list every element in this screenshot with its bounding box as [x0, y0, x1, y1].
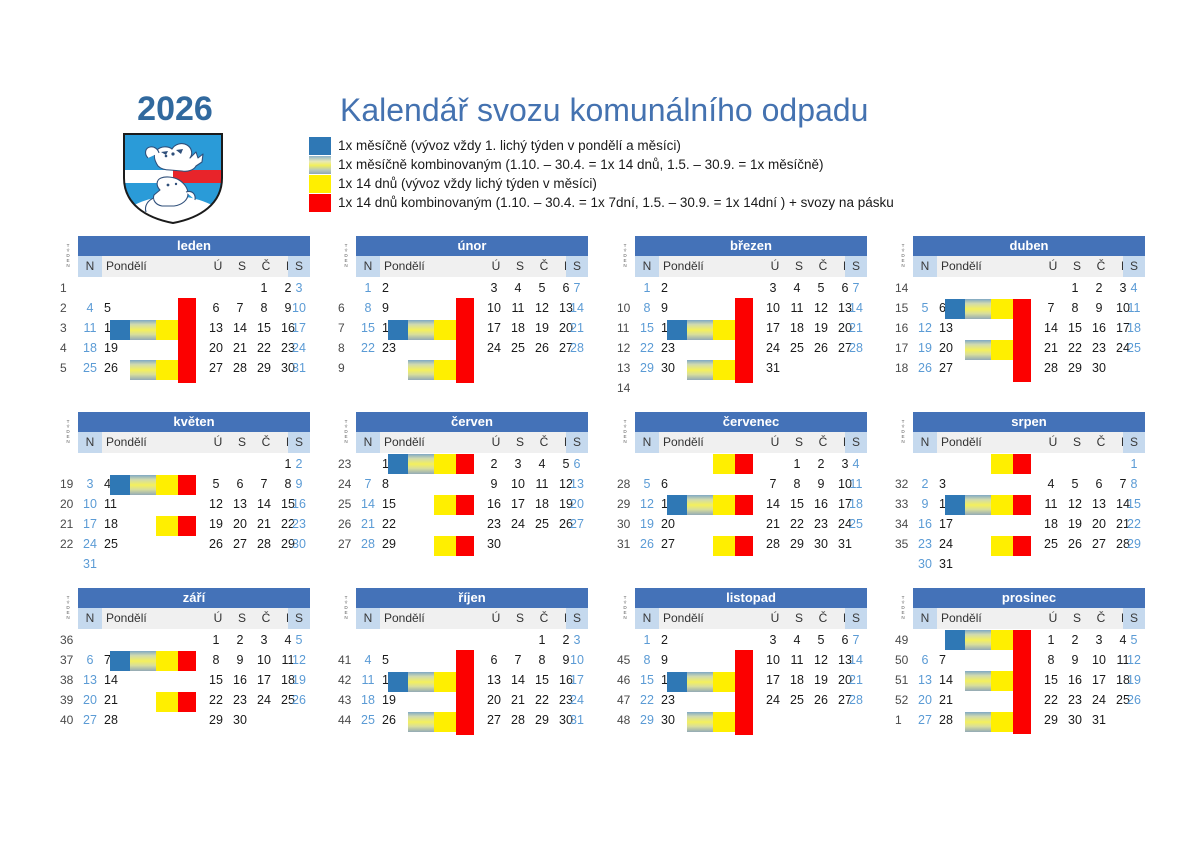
- day-cell: 16: [913, 514, 937, 534]
- day-cell: 5: [809, 630, 833, 650]
- legend-swatch-yellow-icon: [309, 175, 331, 193]
- month-title: květen: [78, 412, 310, 432]
- day-cell: 15: [530, 670, 554, 690]
- day-of-week-1: Pondělí: [380, 608, 440, 629]
- week-number: 25: [338, 494, 356, 514]
- day-cell: 4: [506, 278, 530, 298]
- day-of-week-header: NPondělíÚSČPS: [913, 432, 1145, 453]
- week-number: 18: [895, 358, 913, 378]
- day-of-week-2: Ú: [484, 608, 508, 629]
- week-row: 2010111213141516: [58, 494, 310, 514]
- day-cell: 24: [761, 338, 785, 358]
- day-cell: 29: [785, 534, 809, 554]
- week-row: 322345678: [893, 474, 1145, 494]
- week-row: 15567891011: [893, 298, 1145, 318]
- week-number: 3: [60, 318, 78, 338]
- day-cell: 4: [530, 454, 554, 474]
- day-cell: 22: [530, 690, 554, 710]
- day-cell: 22: [1063, 338, 1087, 358]
- day-cell: 23: [661, 338, 683, 358]
- week-number: 40: [60, 710, 78, 730]
- week-number: 10: [617, 298, 635, 318]
- day-cell: 20: [78, 690, 102, 710]
- week-number: [338, 278, 356, 298]
- day-cell: 24: [252, 690, 276, 710]
- day-cell: 13: [228, 494, 252, 514]
- day-cell: 19: [1123, 670, 1145, 690]
- day-cell: 1: [204, 630, 228, 650]
- day-of-week-4: Č: [1089, 432, 1113, 453]
- month-block-duben: TÝDENdubenNPondělíÚSČPS14123415567891011…: [893, 236, 1145, 378]
- day-cell: 27: [913, 710, 937, 730]
- week-number: 27: [338, 534, 356, 554]
- day-cell: 1: [1039, 630, 1063, 650]
- week-column-label: TÝDEN: [338, 236, 354, 277]
- day-cell: 14: [104, 670, 126, 690]
- day-cell: 6: [566, 454, 588, 474]
- day-cell: 18: [78, 338, 102, 358]
- day-cell: 2: [1087, 278, 1111, 298]
- week-row: 14: [615, 378, 867, 398]
- legend-label: 1x 14 dnů kombinovaným (1.10. – 30.4. = …: [338, 195, 894, 210]
- week-number: 4: [60, 338, 78, 358]
- day-cell: 14: [1039, 318, 1063, 338]
- day-of-week-header: NPondělíÚSČPS: [78, 432, 310, 453]
- week-row: 4318192021222324: [336, 690, 588, 710]
- day-cell: 17: [482, 318, 506, 338]
- day-of-week-0: N: [635, 432, 659, 453]
- day-cell: 9: [661, 298, 683, 318]
- day-cell: 2: [382, 278, 404, 298]
- day-cell: 1: [635, 630, 659, 650]
- day-of-week-1: Pondělí: [659, 608, 719, 629]
- day-cell: 18: [530, 494, 554, 514]
- month-block-březen: TÝDENbřezenNPondělíÚSČPS1234567108910111…: [615, 236, 867, 398]
- day-cell: 29: [1123, 534, 1145, 554]
- day-cell: 1: [1063, 278, 1087, 298]
- week-number: 38: [60, 670, 78, 690]
- day-cell: 31: [78, 554, 102, 574]
- week-number: 21: [60, 514, 78, 534]
- week-row: 3612345: [58, 630, 310, 650]
- day-cell: 10: [761, 650, 785, 670]
- day-cell: 18: [506, 318, 530, 338]
- week-row: 4211121314151617: [336, 670, 588, 690]
- day-cell: 30: [661, 358, 683, 378]
- day-cell: 27: [566, 514, 588, 534]
- day-cell: 27: [78, 710, 102, 730]
- day-of-week-2: Ú: [1041, 608, 1065, 629]
- month-block-listopad: TÝDENlistopadNPondělíÚSČPS12345674589101…: [615, 588, 867, 730]
- week-number: 19: [60, 474, 78, 494]
- day-cell: 27: [482, 710, 506, 730]
- day-cell: 2: [809, 454, 833, 474]
- week-rows: 1234567108910111213141115161718192021122…: [615, 278, 867, 398]
- month-row: TÝDENkvětenNPondělíÚSČPS1219345678920101…: [0, 412, 1200, 588]
- day-cell: 11: [845, 474, 867, 494]
- calendar-page: 2026: [0, 0, 1200, 848]
- day-of-week-0: N: [78, 432, 102, 453]
- day-cell: 26: [913, 358, 937, 378]
- day-cell: 4: [785, 630, 809, 650]
- month-grid: TÝDENledenNPondělíÚSČPS11232456789103111…: [0, 236, 1200, 764]
- day-cell: 14: [356, 494, 380, 514]
- day-of-week-0: N: [356, 256, 380, 277]
- day-cell: 25: [506, 338, 530, 358]
- month-block-červenec: TÝDENčervenecNPondělíÚSČPS12342856789101…: [615, 412, 867, 554]
- day-cell: 16: [1087, 318, 1111, 338]
- day-cell: 21: [1039, 338, 1063, 358]
- month-title: říjen: [356, 588, 588, 608]
- day-cell: 29: [530, 710, 554, 730]
- month-block-září: TÝDENzáříNPondělíÚSČPS361234537678910111…: [58, 588, 310, 730]
- week-row: 45891011121314: [615, 650, 867, 670]
- day-cell: 7: [566, 278, 588, 298]
- week-number: [617, 454, 635, 474]
- day-of-week-4: Č: [811, 608, 835, 629]
- day-cell: 14: [939, 670, 961, 690]
- day-cell: 5: [288, 630, 310, 650]
- week-number: 49: [895, 630, 913, 650]
- day-cell: 12: [809, 650, 833, 670]
- week-number: 45: [617, 650, 635, 670]
- week-number: [895, 554, 913, 574]
- day-of-week-6: S: [288, 256, 310, 277]
- day-of-week-4: Č: [1089, 608, 1113, 629]
- day-cell: 22: [204, 690, 228, 710]
- day-cell: 7: [845, 278, 867, 298]
- day-of-week-header: NPondělíÚSČPS: [635, 432, 867, 453]
- day-cell: 26: [635, 534, 659, 554]
- day-cell: 27: [228, 534, 252, 554]
- week-row: 418192021222324: [58, 338, 310, 358]
- week-number: 50: [895, 650, 913, 670]
- legend-swatch-blue-icon: [309, 137, 331, 155]
- day-of-week-0: N: [913, 432, 937, 453]
- day-cell: 18: [1123, 318, 1145, 338]
- week-row: 1115161718192021: [615, 318, 867, 338]
- day-of-week-6: S: [845, 608, 867, 629]
- week-number: 44: [338, 710, 356, 730]
- week-rows: 1123245678910311121314151617418192021222…: [58, 278, 310, 378]
- day-of-week-1: Pondělí: [659, 256, 719, 277]
- day-cell: 12: [530, 298, 554, 318]
- day-cell: 27: [661, 534, 683, 554]
- week-rows: 1219345678920101112131415162117181920212…: [58, 454, 310, 574]
- day-cell: 16: [228, 670, 252, 690]
- day-cell: 9: [913, 494, 937, 514]
- week-rows: 1234567689101112131471516171819202182223…: [336, 278, 588, 378]
- week-row: 3523242526272829: [893, 534, 1145, 554]
- day-of-week-1: Pondělí: [937, 432, 997, 453]
- day-cell: 29: [204, 710, 228, 730]
- month-block-červen: TÝDENčervenNPondělíÚSČPS2312345624789101…: [336, 412, 588, 554]
- day-cell: 8: [1063, 298, 1087, 318]
- day-cell: 22: [635, 338, 659, 358]
- day-cell: 13: [482, 670, 506, 690]
- day-cell: 14: [506, 670, 530, 690]
- day-cell: 22: [382, 514, 404, 534]
- day-of-week-3: S: [1065, 432, 1089, 453]
- day-cell: 1: [530, 630, 554, 650]
- day-cell: 8: [252, 298, 276, 318]
- day-cell: 18: [845, 494, 867, 514]
- day-cell: 20: [566, 494, 588, 514]
- month-title: listopad: [635, 588, 867, 608]
- week-column-label: TÝDEN: [617, 588, 633, 629]
- day-cell: 24: [1087, 690, 1111, 710]
- week-row: 4615161718192021: [615, 670, 867, 690]
- week-row: 4722232425262728: [615, 690, 867, 710]
- day-cell: 16: [809, 494, 833, 514]
- day-cell: 28: [228, 358, 252, 378]
- day-cell: 7: [845, 630, 867, 650]
- day-cell: 25: [845, 514, 867, 534]
- day-cell: 21: [939, 690, 961, 710]
- day-cell: 4: [104, 474, 126, 494]
- day-cell: 22: [635, 690, 659, 710]
- day-cell: 26: [1123, 690, 1145, 710]
- day-cell: 17: [939, 514, 961, 534]
- day-cell: 16: [1063, 670, 1087, 690]
- day-cell: 11: [104, 494, 126, 514]
- week-number: 15: [895, 298, 913, 318]
- day-cell: 31: [1087, 710, 1111, 730]
- week-rows: 4912345506789101112511314151617181952202…: [893, 630, 1145, 730]
- day-cell: 3: [1087, 630, 1111, 650]
- day-of-week-4: Č: [532, 608, 556, 629]
- day-cell: 4: [785, 278, 809, 298]
- week-row: 2514151617181920: [336, 494, 588, 514]
- day-cell: 5: [382, 650, 404, 670]
- day-cell: 11: [1039, 494, 1063, 514]
- day-cell: 21: [845, 318, 867, 338]
- week-number: 22: [60, 534, 78, 554]
- day-cell: 1: [252, 278, 276, 298]
- day-cell: 14: [845, 650, 867, 670]
- day-cell: 4: [1123, 278, 1145, 298]
- week-number: 8: [338, 338, 356, 358]
- day-of-week-1: Pondělí: [380, 256, 440, 277]
- legend-label: 1x měsíčně (vývoz vždy 1. lichý týden v …: [338, 138, 681, 153]
- week-number: 24: [338, 474, 356, 494]
- week-number: 14: [617, 378, 635, 398]
- day-cell: 20: [661, 514, 683, 534]
- legend-item: 1x měsíčně kombinovaným (1.10. – 30.4. =…: [309, 155, 894, 174]
- week-row: 3416171819202122: [893, 514, 1145, 534]
- day-of-week-4: Č: [1089, 256, 1113, 277]
- day-cell: 13: [78, 670, 102, 690]
- day-cell: 31: [288, 358, 310, 378]
- week-row: 28567891011: [615, 474, 867, 494]
- day-cell: 12: [913, 318, 937, 338]
- day-of-week-6: S: [566, 256, 588, 277]
- day-of-week-header: NPondělíÚSČPS: [913, 256, 1145, 277]
- day-cell: 28: [845, 690, 867, 710]
- week-row: 1234567: [615, 278, 867, 298]
- week-row: 1: [893, 454, 1145, 474]
- week-column-label: TÝDEN: [617, 236, 633, 277]
- month-row: TÝDENledenNPondělíÚSČPS11232456789103111…: [0, 236, 1200, 412]
- day-of-week-4: Č: [254, 608, 278, 629]
- day-cell: 28: [506, 710, 530, 730]
- day-cell: 25: [1039, 534, 1063, 554]
- day-cell: 22: [1123, 514, 1145, 534]
- legend-swatch-combo-icon: [309, 156, 331, 174]
- day-of-week-2: Ú: [763, 608, 787, 629]
- week-number: 14: [895, 278, 913, 298]
- day-cell: 10: [939, 494, 961, 514]
- week-row: 245678910: [58, 298, 310, 318]
- day-cell: 28: [761, 534, 785, 554]
- day-cell: 13: [1087, 494, 1111, 514]
- day-cell: 29: [252, 358, 276, 378]
- day-cell: 31: [833, 534, 857, 554]
- day-cell: 8: [1123, 474, 1145, 494]
- week-number: 52: [895, 690, 913, 710]
- week-row: 4912345: [893, 630, 1145, 650]
- day-of-week-4: Č: [532, 256, 556, 277]
- day-of-week-2: Ú: [763, 256, 787, 277]
- day-cell: 19: [382, 690, 404, 710]
- week-number: 51: [895, 670, 913, 690]
- day-cell: 29: [1039, 710, 1063, 730]
- day-cell: 8: [530, 650, 554, 670]
- week-row: 339101112131415: [893, 494, 1145, 514]
- day-cell: 28: [356, 534, 380, 554]
- day-of-week-header: NPondělíÚSČPS: [913, 608, 1145, 629]
- day-cell: 5: [635, 474, 659, 494]
- day-of-week-header: NPondělíÚSČPS: [635, 608, 867, 629]
- day-cell: 28: [104, 710, 126, 730]
- week-row: 4027282930: [58, 710, 310, 730]
- day-cell: 1: [635, 278, 659, 298]
- week-row: 822232425262728: [336, 338, 588, 358]
- week-number: 26: [338, 514, 356, 534]
- day-of-week-4: Č: [254, 256, 278, 277]
- day-cell: 20: [1087, 514, 1111, 534]
- day-cell: 28: [566, 338, 588, 358]
- day-cell: 11: [785, 298, 809, 318]
- day-cell: 6: [661, 474, 683, 494]
- day-of-week-4: Č: [811, 432, 835, 453]
- day-of-week-4: Č: [811, 256, 835, 277]
- day-cell: 10: [566, 650, 588, 670]
- day-of-week-3: S: [787, 256, 811, 277]
- day-cell: 19: [204, 514, 228, 534]
- month-title: leden: [78, 236, 310, 256]
- day-of-week-4: Č: [532, 432, 556, 453]
- day-cell: 14: [252, 494, 276, 514]
- month-row: TÝDENzáříNPondělíÚSČPS361234537678910111…: [0, 588, 1200, 764]
- week-row: 13293031: [615, 358, 867, 378]
- day-of-week-2: Ú: [206, 432, 230, 453]
- day-cell: 15: [382, 494, 404, 514]
- day-cell: 4: [78, 298, 102, 318]
- day-of-week-6: S: [845, 256, 867, 277]
- day-of-week-header: NPondělíÚSČPS: [356, 256, 588, 277]
- day-cell: 17: [566, 670, 588, 690]
- week-number: 31: [617, 534, 635, 554]
- day-cell: 18: [785, 670, 809, 690]
- day-of-week-3: S: [508, 608, 532, 629]
- week-row: 2621222324252627: [336, 514, 588, 534]
- day-cell: 6: [1087, 474, 1111, 494]
- week-number: 7: [338, 318, 356, 338]
- legend-label: 1x měsíčně kombinovaným (1.10. – 30.4. =…: [338, 157, 824, 172]
- week-row: 23123456: [336, 454, 588, 474]
- day-of-week-0: N: [78, 256, 102, 277]
- day-cell: 9: [288, 474, 310, 494]
- day-cell: 23: [913, 534, 937, 554]
- day-cell: 12: [1063, 494, 1087, 514]
- day-cell: 7: [356, 474, 380, 494]
- week-row: 6891011121314: [336, 298, 588, 318]
- day-cell: 4: [356, 650, 380, 670]
- day-cell: 31: [761, 358, 785, 378]
- day-cell: 10: [1087, 650, 1111, 670]
- day-of-week-0: N: [356, 432, 380, 453]
- day-cell: 17: [761, 318, 785, 338]
- day-cell: 29: [635, 358, 659, 378]
- week-column-label: TÝDEN: [617, 412, 633, 453]
- day-cell: 24: [482, 338, 506, 358]
- month-title: červenec: [635, 412, 867, 432]
- day-cell: 15: [1063, 318, 1087, 338]
- day-cell: 30: [482, 534, 506, 554]
- week-column-label: TÝDEN: [60, 412, 76, 453]
- day-cell: 24: [288, 338, 310, 358]
- day-cell: 23: [288, 514, 310, 534]
- day-cell: 3: [761, 630, 785, 650]
- day-of-week-1: Pondělí: [937, 608, 997, 629]
- week-row: 141234: [893, 278, 1145, 298]
- day-cell: 15: [356, 318, 380, 338]
- day-cell: 17: [761, 670, 785, 690]
- day-cell: 13: [204, 318, 228, 338]
- day-of-week-3: S: [508, 432, 532, 453]
- day-of-week-1: Pondělí: [380, 432, 440, 453]
- day-cell: 15: [1123, 494, 1145, 514]
- day-cell: 19: [104, 338, 126, 358]
- month-title: duben: [913, 236, 1145, 256]
- day-of-week-6: S: [1123, 432, 1145, 453]
- day-cell: 8: [635, 298, 659, 318]
- week-row: 9: [336, 358, 588, 378]
- day-cell: 16: [482, 494, 506, 514]
- week-number: 2: [60, 298, 78, 318]
- week-number: 1: [895, 710, 913, 730]
- legend: 1x měsíčně (vývoz vždy 1. lichý týden v …: [309, 136, 894, 212]
- day-cell: 10: [78, 494, 102, 514]
- day-cell: 31: [939, 554, 961, 574]
- week-number: 46: [617, 670, 635, 690]
- legend-item: 1x měsíčně (vývoz vždy 1. lichý týden v …: [309, 136, 894, 155]
- day-cell: 8: [204, 650, 228, 670]
- day-of-week-header: NPondělíÚSČPS: [356, 432, 588, 453]
- week-row: 715161718192021: [336, 318, 588, 338]
- week-row: 123: [336, 630, 588, 650]
- week-row: 31262728293031: [615, 534, 867, 554]
- month-block-květen: TÝDENkvětenNPondělíÚSČPS1219345678920101…: [58, 412, 310, 574]
- day-cell: 4: [845, 454, 867, 474]
- day-cell: 21: [356, 514, 380, 534]
- day-cell: 5: [809, 278, 833, 298]
- day-cell: 23: [482, 514, 506, 534]
- week-number: 11: [617, 318, 635, 338]
- day-cell: 17: [1087, 670, 1111, 690]
- day-of-week-3: S: [1065, 608, 1089, 629]
